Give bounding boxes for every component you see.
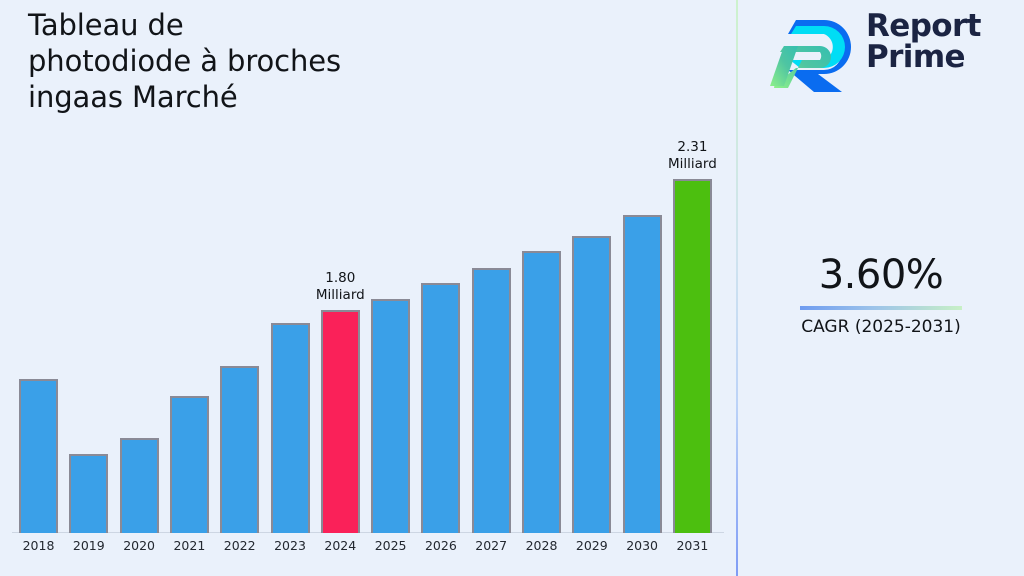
bar-2029 — [572, 236, 611, 533]
bar-2024 — [321, 310, 360, 533]
report-prime-r-mark-icon — [768, 14, 858, 94]
bar-2026 — [421, 283, 460, 533]
bar-2019 — [69, 454, 108, 533]
bar-2025 — [371, 299, 410, 533]
bar-2027 — [472, 268, 511, 533]
cagr-value: 3.60% — [738, 250, 1024, 300]
infographic-page: Tableau de photodiode à broches ingaas M… — [0, 0, 1024, 576]
logo-wordmark: Report Prime — [866, 11, 1016, 72]
bar-2028 — [522, 251, 561, 533]
report-prime-logo: Report Prime — [768, 10, 1008, 96]
cagr-caption: CAGR (2025-2031) — [738, 314, 1024, 340]
bar-2022 — [220, 366, 259, 533]
x-axis-tick-2031: 2031 — [663, 538, 722, 553]
brand-panel: Report Prime 3.60% CAGR (2025-2031) — [738, 0, 1024, 576]
bar-2021 — [170, 396, 209, 533]
bar-chart-plot: 20182019202020212022202320241.80 Milliar… — [0, 0, 737, 576]
bar-2020 — [120, 438, 159, 533]
bar-value-label-2031: 2.31 Milliard — [648, 139, 737, 173]
bar-2031 — [673, 179, 712, 533]
chart-panel: Tableau de photodiode à broches ingaas M… — [0, 0, 737, 576]
bar-2023 — [271, 323, 310, 533]
bar-2030 — [623, 215, 662, 533]
cagr-block: 3.60% CAGR (2025-2031) — [738, 250, 1024, 340]
bar-2018 — [19, 379, 58, 533]
cagr-divider-rule — [800, 306, 962, 310]
